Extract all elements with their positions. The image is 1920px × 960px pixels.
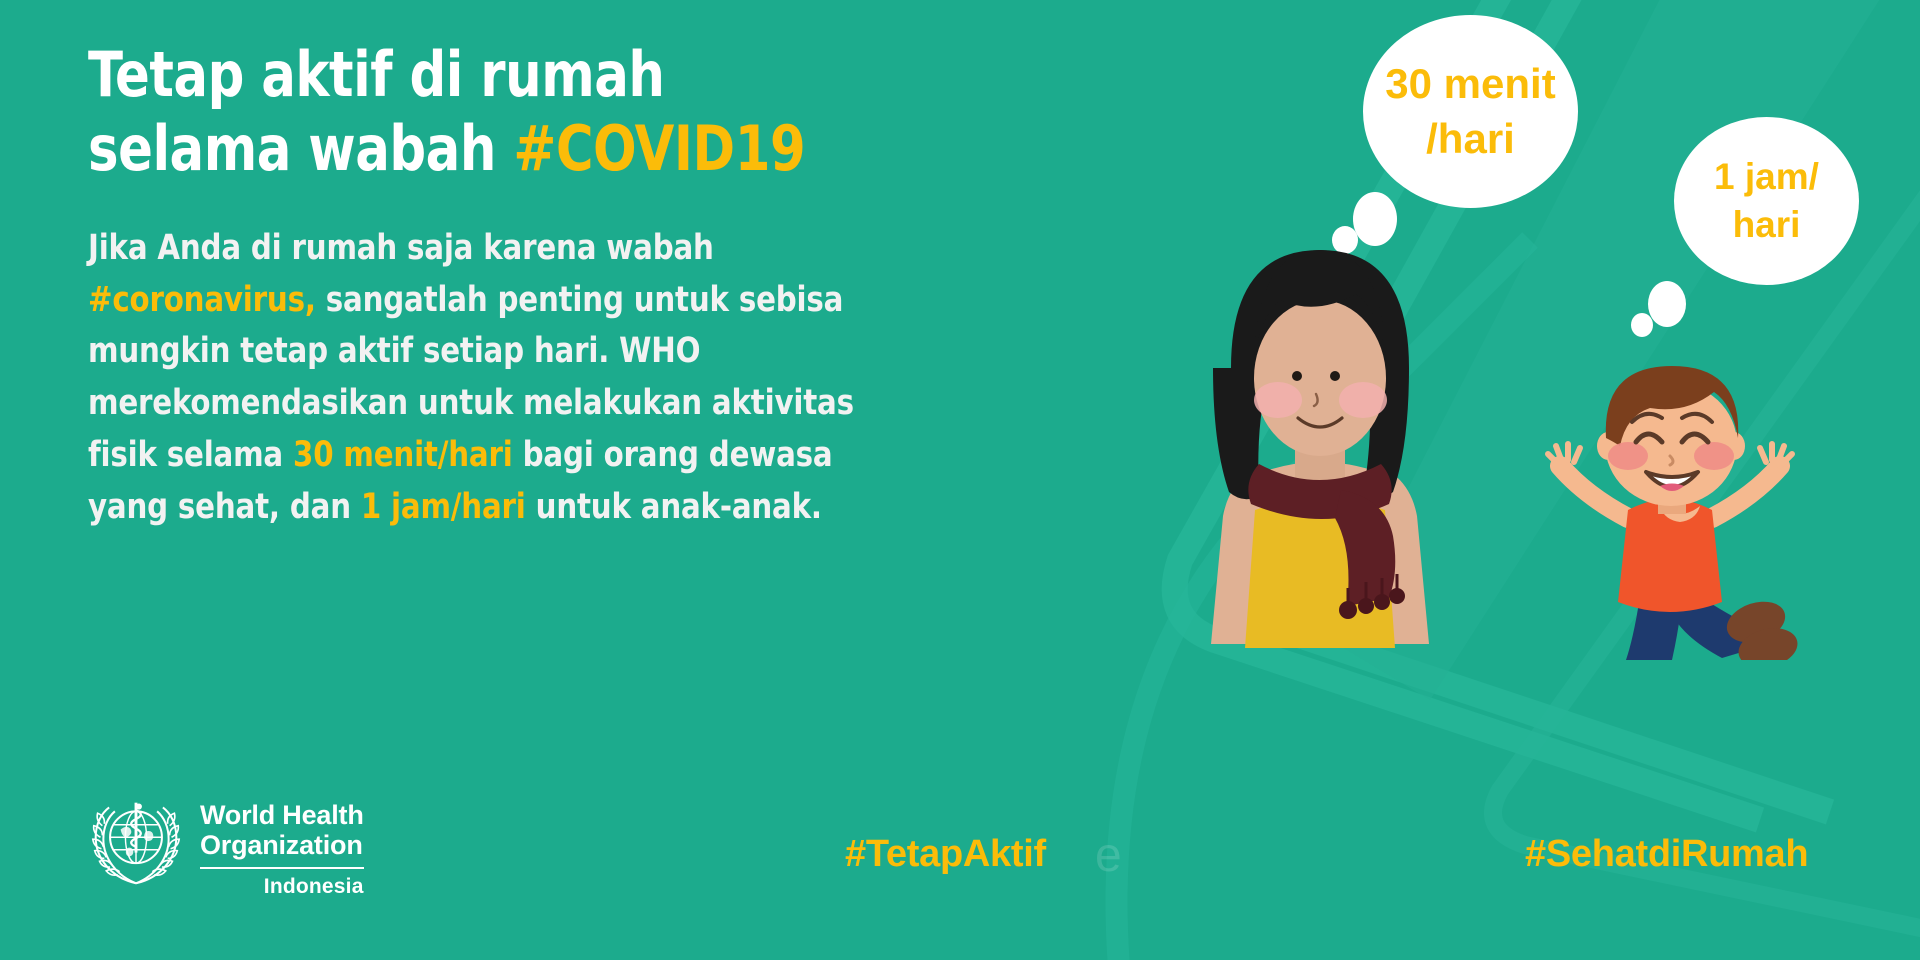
child-hand-right xyxy=(1760,444,1792,466)
bubble-child-line-2: hari xyxy=(1733,201,1801,249)
body-segment-7: untuk anak-anak. xyxy=(526,487,822,527)
who-country-label: Indonesia xyxy=(200,875,364,899)
bubble-adult-line-1: 30 menit xyxy=(1385,57,1555,112)
woman-face xyxy=(1254,300,1386,456)
body-segment-1: Jika Anda di rumah saja karena wabah xyxy=(88,228,714,268)
headline-line-2-plain: selama wabah xyxy=(88,112,513,185)
who-name-line-2: Organization xyxy=(200,831,364,861)
who-emblem-icon xyxy=(88,795,184,891)
hashtag-tetap-aktif[interactable]: #TetapAktif xyxy=(845,833,1046,876)
thought-bubble-adult: 30 menit /hari xyxy=(1363,15,1578,208)
who-logo: World Health Organization Indonesia xyxy=(88,795,364,899)
body-duration-adults: 30 menit/hari xyxy=(293,435,513,475)
headline-hashtag-covid19: #COVID19 xyxy=(513,112,805,185)
who-divider-rule xyxy=(200,867,364,869)
child-hand-left xyxy=(1548,444,1580,466)
woman-blush-right xyxy=(1339,382,1387,418)
hashtag-sehat-di-rumah[interactable]: #SehatdiRumah xyxy=(1525,833,1808,876)
headline-line-1: Tetap aktif di rumah xyxy=(88,38,1008,112)
who-name-line-1: World Health xyxy=(200,801,364,831)
thought-bubble-child-dot-large xyxy=(1648,281,1686,327)
body-paragraph: Jika Anda di rumah saja karena wabah #co… xyxy=(88,223,860,534)
body-duration-children: 1 jam/hari xyxy=(361,487,526,527)
thought-bubble-child: 1 jam/ hari xyxy=(1674,117,1859,285)
woman-eye-right xyxy=(1330,371,1340,381)
illustration-child xyxy=(1500,360,1870,660)
poster-canvas: Tetap aktif di rumah selama wabah #COVID… xyxy=(0,0,1920,960)
headline-line-2: selama wabah #COVID19 xyxy=(88,112,1008,186)
headline: Tetap aktif di rumah selama wabah #COVID… xyxy=(88,38,1008,187)
bubble-child-line-1: 1 jam/ xyxy=(1714,153,1819,201)
thought-bubble-child-dot-small xyxy=(1631,313,1653,337)
who-wordmark: World Health Organization Indonesia xyxy=(200,795,364,899)
woman-blush-left xyxy=(1254,382,1302,418)
illustration-woman xyxy=(1135,228,1505,648)
child-blush-left xyxy=(1608,442,1648,470)
bubble-adult-line-2: /hari xyxy=(1426,112,1515,167)
text-column: Tetap aktif di rumah selama wabah #COVID… xyxy=(88,38,1088,534)
child-blush-right xyxy=(1694,442,1734,470)
body-hashtag-coronavirus: #coronavirus, xyxy=(88,280,316,320)
woman-eye-left xyxy=(1292,371,1302,381)
